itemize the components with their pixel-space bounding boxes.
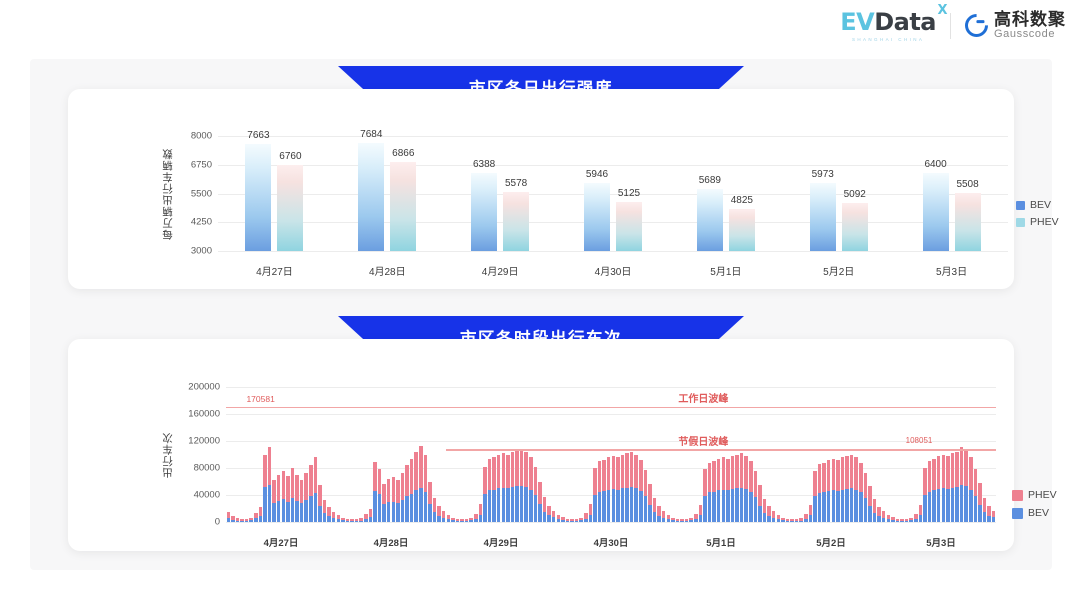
dashboard-page: EVDataX SHANGHAI CHINA 高科数聚 Gausscode 市区…: [0, 0, 1080, 608]
chart1-bar-bev[interactable]: 6388: [471, 173, 497, 251]
chart2-segment-phev: [662, 511, 665, 518]
chart2-segment-bev: [799, 521, 802, 522]
chart2-segment-phev: [942, 455, 945, 489]
chart2-segment-bev: [873, 513, 876, 522]
chart1-bar-value: 6400: [924, 159, 946, 170]
chart2-segment-bev: [497, 488, 500, 522]
chart2-segment-bev: [749, 492, 752, 522]
chart2-segment-bev: [822, 492, 825, 522]
chart2-segment-phev: [845, 456, 848, 489]
chart1-bar-phev[interactable]: 6760: [277, 165, 303, 251]
chart2-segment-bev: [946, 489, 949, 522]
chart2-plot-area: 出行车次040000800001200001600002000004月27日4月…: [226, 387, 996, 522]
chart2-segment-phev: [483, 467, 486, 495]
annotation-line-weekday-peak: [226, 407, 996, 409]
chart2-segment-phev: [648, 484, 651, 506]
chart2-segment-bev: [405, 496, 408, 522]
chart2-segment-bev: [836, 491, 839, 522]
chart2-segment-phev: [497, 455, 500, 489]
chart2-segment-phev: [873, 499, 876, 513]
chart2-segment-phev: [314, 457, 317, 493]
chart2-segment-bev: [529, 490, 532, 522]
chart2-segment-bev: [286, 502, 289, 522]
chart2-segment-bev: [763, 513, 766, 522]
legend-swatch-bev: [1016, 201, 1025, 210]
chart1-bar-bev[interactable]: 5973: [810, 183, 836, 251]
chart2-segment-bev: [859, 492, 862, 522]
chart2-segment-phev: [625, 453, 628, 487]
chart1-y-tick: 6750: [191, 159, 212, 170]
annotation-label-holiday-peak: 节假日波峰: [678, 433, 728, 448]
chart1-bar-value: 6388: [473, 159, 495, 170]
chart2-x-tick: 4月30日: [594, 535, 629, 549]
chart2-segment-phev: [309, 465, 312, 497]
chart2-segment-bev: [662, 518, 665, 522]
chart2-segment-phev: [369, 509, 372, 517]
chart1-bar-value: 5689: [699, 175, 721, 186]
chart2-segment-bev: [254, 518, 257, 522]
chart2-segment-phev: [964, 450, 967, 486]
chart2-segment-bev: [877, 516, 880, 522]
chart2-segment-bev: [538, 504, 541, 522]
chart2-segment-bev: [942, 488, 945, 522]
chart2-segment-bev: [607, 490, 610, 522]
chart2-segment-bev: [534, 495, 537, 522]
chart1-bar-bev[interactable]: 5689: [697, 189, 723, 251]
chart1-bar-group[interactable]: 59465125: [557, 136, 670, 251]
chart2-segment-bev: [465, 521, 468, 522]
chart2-segment-bev: [337, 519, 340, 522]
chart2-segment-bev: [630, 487, 633, 522]
chart2-segment-phev: [923, 468, 926, 495]
chart2-segment-bev: [887, 519, 890, 522]
chart1-bar-group[interactable]: 64005508: [895, 136, 1008, 251]
chart2-x-tick: 4月27日: [264, 535, 299, 549]
chart1-bar-value: 5973: [812, 169, 834, 180]
chart1-bar-bev[interactable]: 6400: [923, 173, 949, 251]
chart2-segment-phev: [401, 473, 404, 500]
chart2-legend-item[interactable]: PHEV: [1012, 489, 1057, 501]
chart2-segment-bev: [382, 504, 385, 522]
chart2-segment-phev: [488, 459, 491, 491]
chart2-y-tick: 40000: [194, 490, 220, 501]
chart1-bar-bev[interactable]: 5946: [584, 183, 610, 251]
chart2-segment-bev: [323, 513, 326, 522]
chart2-segment-phev: [767, 506, 770, 515]
chart2-y-tick: 160000: [188, 409, 220, 420]
chart2-segment-bev: [955, 487, 958, 522]
chart2-segment-bev: [295, 501, 298, 522]
chart2-segment-bev: [359, 521, 362, 522]
chart2-segment-bev: [882, 518, 885, 522]
chart1-x-tick: 5月2日: [823, 263, 854, 278]
chart2-segment-phev: [937, 456, 940, 489]
chart2-segment-phev: [598, 461, 601, 491]
chart2-segment-phev: [259, 507, 262, 516]
chart2-segment-bev: [634, 488, 637, 522]
chart2-segment-bev: [428, 504, 431, 522]
chart2-segment-bev: [506, 488, 509, 522]
chart2-card: 出行车次040000800001200001600002000004月27日4月…: [68, 339, 1014, 551]
chart2-segment-bev: [282, 499, 285, 522]
chart2-segment-bev: [410, 494, 413, 522]
chart1-bar-value: 7663: [247, 130, 269, 141]
chart2-segment-bev: [717, 490, 720, 522]
chart2-segment-bev: [387, 502, 390, 522]
chart2-segment-phev: [538, 482, 541, 504]
chart2-segment-bev: [864, 498, 867, 522]
chart2-segment-bev: [341, 520, 344, 522]
chart2-segment-bev: [818, 493, 821, 522]
chart2-segment-phev: [809, 505, 812, 515]
chart2-segment-phev: [547, 506, 550, 516]
chart2-segment-bev: [653, 512, 656, 522]
chart2-segment-bev: [304, 500, 307, 522]
chart1-bar-value: 4825: [731, 195, 753, 206]
chart2-segment-bev: [868, 506, 871, 522]
gausscode-en-name: Gausscode: [994, 29, 1066, 41]
chart2-legend-item[interactable]: BEV: [1012, 507, 1057, 519]
chart1-legend-item[interactable]: BEV: [1016, 199, 1059, 211]
brand-header: EVDataX SHANGHAI CHINA 高科数聚 Gausscode: [840, 0, 1066, 52]
chart2-segment-bev: [850, 488, 853, 522]
chart2-segment-bev: [928, 492, 931, 522]
chart2-segment-bev: [240, 521, 243, 522]
chart2-segment-bev: [964, 486, 967, 522]
chart2-segment-phev: [396, 480, 399, 503]
chart2-segment-phev: [983, 498, 986, 513]
chart2-segment-bev: [515, 486, 518, 522]
chart2-segment-phev: [822, 463, 825, 493]
chart2-segment-bev: [795, 521, 798, 522]
gausscode-text: 高科数聚 Gausscode: [994, 11, 1066, 40]
annotation-value-holiday-peak: 108051: [906, 436, 933, 445]
chart2-segment-phev: [969, 457, 972, 490]
chart2-segment-bev: [355, 521, 358, 522]
chart2-segment-bev: [456, 521, 459, 522]
chart2-segment-bev: [451, 520, 454, 522]
chart1-bar-value: 5092: [844, 189, 866, 200]
chart1-bar-group[interactable]: 76846866: [331, 136, 444, 251]
chart1-y-tick: 5500: [191, 188, 212, 199]
chart2-segment-bev: [396, 503, 399, 522]
chart2-segment-bev: [589, 515, 592, 522]
chart2-segment-bev: [309, 496, 312, 522]
chart2-segment-bev: [781, 520, 784, 522]
chart2-y-tick: 120000: [188, 436, 220, 447]
chart2-segment-bev: [841, 490, 844, 522]
legend-swatch-phev: [1012, 490, 1023, 501]
chart2-segment-bev: [552, 517, 555, 522]
chart2-segment-bev: [767, 516, 770, 522]
chart2-segment-phev: [758, 485, 761, 506]
chart2-segment-bev: [667, 519, 670, 522]
chart2-segment-phev: [593, 468, 596, 495]
chart2-segment-phev: [424, 455, 427, 492]
chart1-bar-value: 6866: [392, 148, 414, 159]
chart1-x-tick: 5月1日: [710, 263, 741, 278]
chart2-segment-phev: [282, 471, 285, 499]
chart2-segment-bev: [350, 521, 353, 522]
chart2-segment-bev: [272, 503, 275, 522]
chart2-y-tick: 0: [215, 517, 220, 528]
chart1-bar-group[interactable]: 76636760: [218, 136, 331, 251]
chart2-y-axis-label: 出行车次: [160, 432, 175, 478]
evdata-wordmark: EVDataX: [840, 10, 936, 34]
chart2-segment-phev: [836, 460, 839, 491]
chart2-segment-bev: [703, 496, 706, 522]
chart2-segment-bev: [566, 521, 569, 522]
chart2-segment-bev: [639, 491, 642, 522]
chart2-segment-bev: [346, 521, 349, 522]
chart2-segment-phev: [928, 461, 931, 491]
chart2-segment-bev: [502, 488, 505, 522]
chart2-segment-bev: [442, 518, 445, 522]
chart2-segment-phev: [960, 447, 963, 485]
chart2-segment-bev: [245, 521, 248, 522]
chart2-segment-phev: [300, 480, 303, 503]
chart2-segment-bev: [854, 490, 857, 522]
chart2-segment-bev: [992, 517, 995, 522]
chart2-segment-bev: [676, 521, 679, 522]
chart1-bar-phev[interactable]: 5578: [503, 192, 529, 251]
chart2-segment-bev: [689, 520, 692, 522]
chart2-segment-phev: [373, 462, 376, 491]
chart2-segment-phev: [744, 456, 747, 489]
chart2-segment-phev: [877, 507, 880, 516]
chart2-segment-phev: [653, 498, 656, 512]
chart2-segment-bev: [937, 489, 940, 522]
chart2-x-tick: 5月1日: [706, 535, 736, 549]
chart2-segment-phev: [987, 506, 990, 516]
chart2-segment-phev: [414, 452, 417, 490]
chart2-segment-phev: [946, 456, 949, 489]
chart2-segment-phev: [974, 469, 977, 496]
evdata-data-text: Data: [874, 8, 936, 36]
chart2-segment-phev: [272, 480, 275, 503]
chart1-bar-phev[interactable]: 5125: [616, 202, 642, 251]
chart2-segment-bev: [547, 515, 550, 522]
chart1-gridline: [218, 251, 1008, 252]
chart2-segment-bev: [561, 520, 564, 522]
content-panel: 市区各日出行强度 每万辆出行车辆数30004250550067508000766…: [30, 59, 1052, 570]
chart2-segment-bev: [318, 506, 321, 522]
chart1-bar-bev[interactable]: 7684: [358, 143, 384, 251]
chart2-segment-bev: [722, 490, 725, 522]
chart2-segment-phev: [392, 477, 395, 502]
chart2-segment-bev: [909, 520, 912, 522]
gausscode-cn-name: 高科数聚: [994, 11, 1066, 29]
evdata-superscript-x: X: [937, 4, 947, 17]
chart1-bar-phev[interactable]: 5092: [842, 203, 868, 251]
chart2-segment-bev: [392, 502, 395, 522]
chart2-segment-phev: [534, 467, 537, 495]
chart1-x-tick: 4月28日: [369, 263, 406, 278]
chart2-segment-phev: [437, 506, 440, 515]
chart1-bar-group[interactable]: 63885578: [444, 136, 557, 251]
chart1-bar-phev[interactable]: 4825: [729, 209, 755, 251]
chart2-segment-bev: [832, 490, 835, 522]
chart2-segment-bev: [543, 512, 546, 522]
chart1-bar-group[interactable]: 56894825: [669, 136, 782, 251]
chart2-segment-phev: [612, 456, 615, 489]
chart1-bar-value: 5946: [586, 169, 608, 180]
chart2-segment-phev: [382, 484, 385, 505]
chart2-segment-bev: [249, 520, 252, 522]
chart2-segment-bev: [735, 488, 738, 522]
chart2-segment-bev: [680, 521, 683, 522]
chart2-segment-bev: [460, 521, 463, 522]
chart2-x-tick: 5月3日: [926, 535, 956, 549]
chart2-segment-phev: [749, 461, 752, 491]
chart2-legend: PHEVBEV: [1012, 489, 1057, 519]
chart2-segment-bev: [414, 490, 417, 522]
chart1-bar-value: 6760: [279, 151, 301, 162]
chart2-segment-phev: [832, 459, 835, 491]
chart2-segment-phev: [268, 447, 271, 485]
chart2-segment-bev: [987, 516, 990, 522]
annotation-line-holiday-peak: [446, 449, 996, 451]
chart2-segment-bev: [291, 498, 294, 522]
chart2-segment-phev: [502, 453, 505, 487]
chart2-segment-phev: [850, 455, 853, 489]
chart2-segment-bev: [625, 488, 628, 522]
chart2-segment-bev: [919, 515, 922, 522]
chart2-segment-bev: [263, 487, 266, 522]
chart2-segment-bev: [969, 490, 972, 522]
gausscode-circle-icon: [960, 10, 993, 43]
chart1-x-tick: 5月3日: [936, 263, 967, 278]
chart2-segment-bev: [740, 488, 743, 522]
chart1-bar-value: 5125: [618, 188, 640, 199]
chart1-bar-value: 5578: [505, 178, 527, 189]
chart1-plot-area: 每万辆出行车辆数30004250550067508000766367604月27…: [218, 136, 1008, 251]
chart2-segment-bev: [433, 512, 436, 522]
evdata-tagline: SHANGHAI CHINA: [852, 37, 924, 42]
gausscode-logo: 高科数聚 Gausscode: [965, 11, 1066, 40]
chart2-segment-phev: [291, 468, 294, 498]
chart2-segment-bev: [744, 489, 747, 522]
chart2-segment-phev: [657, 506, 660, 516]
chart2-segment-phev: [772, 511, 775, 518]
chart2-segment-bev: [786, 521, 789, 522]
chart2-segment-phev: [263, 455, 266, 487]
chart2-segment-phev: [735, 455, 738, 489]
chart2-segment-bev: [974, 496, 977, 522]
chart2-segment-bev: [896, 521, 899, 522]
chart2-segment-phev: [327, 507, 330, 516]
chart2-segment-bev: [598, 492, 601, 522]
chart1-bar-bev[interactable]: 7663: [245, 144, 271, 251]
chart2-segment-bev: [511, 487, 514, 522]
chart2-segment-bev: [923, 495, 926, 522]
chart2-segment-bev: [327, 516, 330, 522]
chart1-y-tick: 3000: [191, 246, 212, 257]
chart2-segment-bev: [616, 490, 619, 522]
chart2-segment-bev: [983, 512, 986, 522]
chart2-segment-phev: [428, 482, 431, 504]
chart2-segment-phev: [602, 460, 605, 491]
chart2-segment-phev: [286, 476, 289, 502]
chart2-segment-phev: [515, 450, 518, 486]
legend-label-phev: PHEV: [1030, 216, 1059, 228]
chart2-segment-phev: [442, 511, 445, 518]
chart2-segment-phev: [492, 457, 495, 489]
chart2-segment-bev: [277, 501, 280, 522]
chart2-segment-phev: [410, 459, 413, 493]
chart2-y-tick: 80000: [194, 463, 220, 474]
legend-label-phev: PHEV: [1028, 489, 1057, 501]
chart2-segment-bev: [809, 515, 812, 522]
chart2-segment-phev: [387, 479, 390, 503]
chart2-segment-phev: [978, 483, 981, 505]
chart2-segment-phev: [827, 460, 830, 491]
chart2-segment-phev: [864, 473, 867, 498]
chart2-segment-bev: [575, 521, 578, 522]
chart2-segment-phev: [295, 475, 298, 501]
chart2-gridline: [226, 522, 996, 523]
chart2-segment-phev: [506, 455, 509, 489]
chart2-segment-bev: [236, 521, 239, 522]
chart2-segment-bev: [621, 488, 624, 522]
chart2-segment-phev: [405, 465, 408, 496]
chart2-segment-phev: [529, 457, 532, 489]
chart2-segment-bev: [708, 492, 711, 522]
chart2-segment-bev: [777, 519, 780, 522]
chart2-segment-bev: [524, 487, 527, 522]
chart1-x-tick: 4月30日: [595, 263, 632, 278]
chart2-segment-bev: [332, 518, 335, 522]
chart1-x-tick: 4月27日: [256, 263, 293, 278]
chart2-segment-phev: [378, 469, 381, 495]
chart2-segment-bev: [401, 500, 404, 522]
chart2-segment-bev: [932, 490, 935, 522]
chart1-legend-item[interactable]: PHEV: [1016, 216, 1059, 228]
chart2-segment-phev: [543, 497, 546, 512]
chart1-bar-phev[interactable]: 6866: [390, 162, 416, 251]
chart2-segment-bev: [731, 489, 734, 522]
chart2-segment-phev: [740, 453, 743, 487]
chart2-segment-phev: [589, 504, 592, 514]
chart2-segment-bev: [584, 519, 587, 523]
chart2-segment-bev: [268, 485, 271, 522]
chart2-segment-phev: [818, 464, 821, 493]
chart2-segment-bev: [772, 518, 775, 522]
chart1-bar-group[interactable]: 59735092: [782, 136, 895, 251]
chart2-segment-bev: [813, 496, 816, 522]
chart2-segment-phev: [813, 471, 816, 497]
chart2-segment-bev: [754, 497, 757, 522]
chart2-segment-bev: [657, 516, 660, 522]
logo-divider: [950, 13, 951, 39]
chart2-segment-bev: [804, 519, 807, 522]
chart2-segment-phev: [763, 499, 766, 513]
chart2-segment-bev: [602, 491, 605, 522]
chart2-segment-phev: [932, 459, 935, 491]
chart2-segment-phev: [708, 463, 711, 493]
chart2-segment-phev: [726, 459, 729, 491]
chart2-segment-bev: [593, 495, 596, 522]
chart2-segment-phev: [754, 471, 757, 497]
evdata-ev-text: EV: [840, 8, 874, 36]
chart2-segment-phev: [552, 511, 555, 518]
chart1-bar-phev[interactable]: 5508: [955, 193, 981, 251]
chart2-segment-phev: [644, 470, 647, 496]
chart2-segment-phev: [712, 461, 715, 491]
chart2-segment-bev: [424, 492, 427, 522]
chart2-segment-bev: [314, 493, 317, 522]
chart2-segment-bev: [227, 518, 230, 522]
